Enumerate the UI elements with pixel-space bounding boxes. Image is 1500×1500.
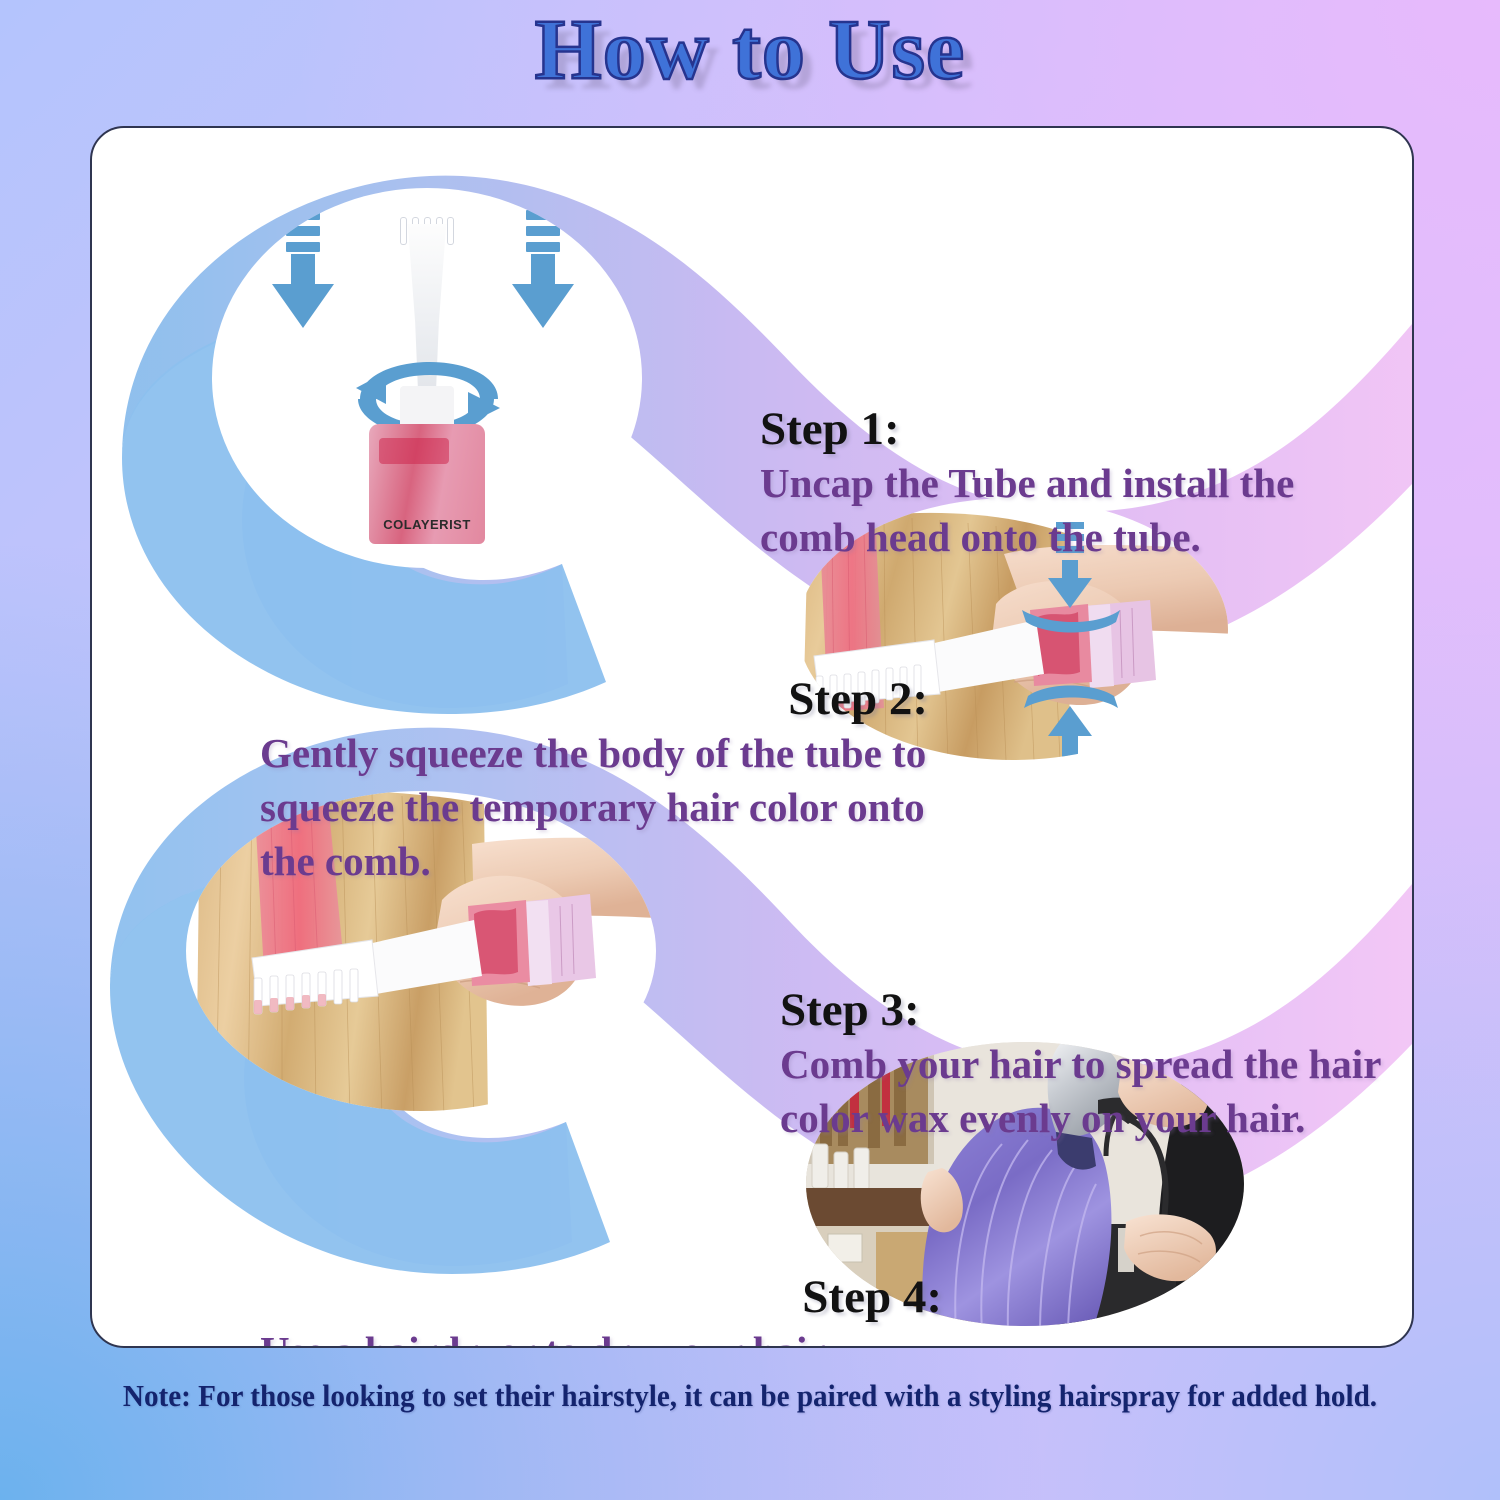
step-3-body: Comb your hair to spread the hair color … — [780, 1037, 1400, 1145]
product-brand-label: COLAYERIST — [369, 517, 485, 532]
tube-body-graphic: COLAYERIST — [369, 424, 485, 544]
step-1-illustration: COLAYERIST — [212, 188, 642, 568]
step-3-block: Step 3: Comb your hair to spread the hai… — [780, 984, 1400, 1145]
press-down-arrow-right-icon — [512, 210, 574, 330]
step-1-block: Step 1: Uncap the Tube and install the c… — [760, 403, 1400, 564]
step-2-block: Step 2: Gently squeeze the body of the t… — [260, 673, 950, 888]
step-2-body: Gently squeeze the body of the tube to s… — [260, 726, 950, 888]
footer-note: Note: For those looking to set their hai… — [45, 1378, 1455, 1414]
step-4-heading: Step 4: — [260, 1271, 952, 1324]
page-title-wrapper: How to Use — [0, 4, 1500, 94]
step-3-heading: Step 3: — [780, 984, 1400, 1037]
step-1-heading: Step 1: — [760, 403, 1400, 456]
step-2-heading: Step 2: — [260, 673, 950, 726]
step-1-body: Uncap the Tube and install the comb head… — [760, 456, 1400, 564]
step-4-body: Use a hairdryer to dry your hair. — [260, 1324, 952, 1348]
page-title: How to Use — [535, 4, 965, 94]
step-4-block: Step 4: Use a hairdryer to dry your hair… — [260, 1271, 952, 1348]
press-down-arrow-left-icon — [272, 210, 334, 330]
instructions-card: COLAYERIST — [90, 126, 1414, 1348]
